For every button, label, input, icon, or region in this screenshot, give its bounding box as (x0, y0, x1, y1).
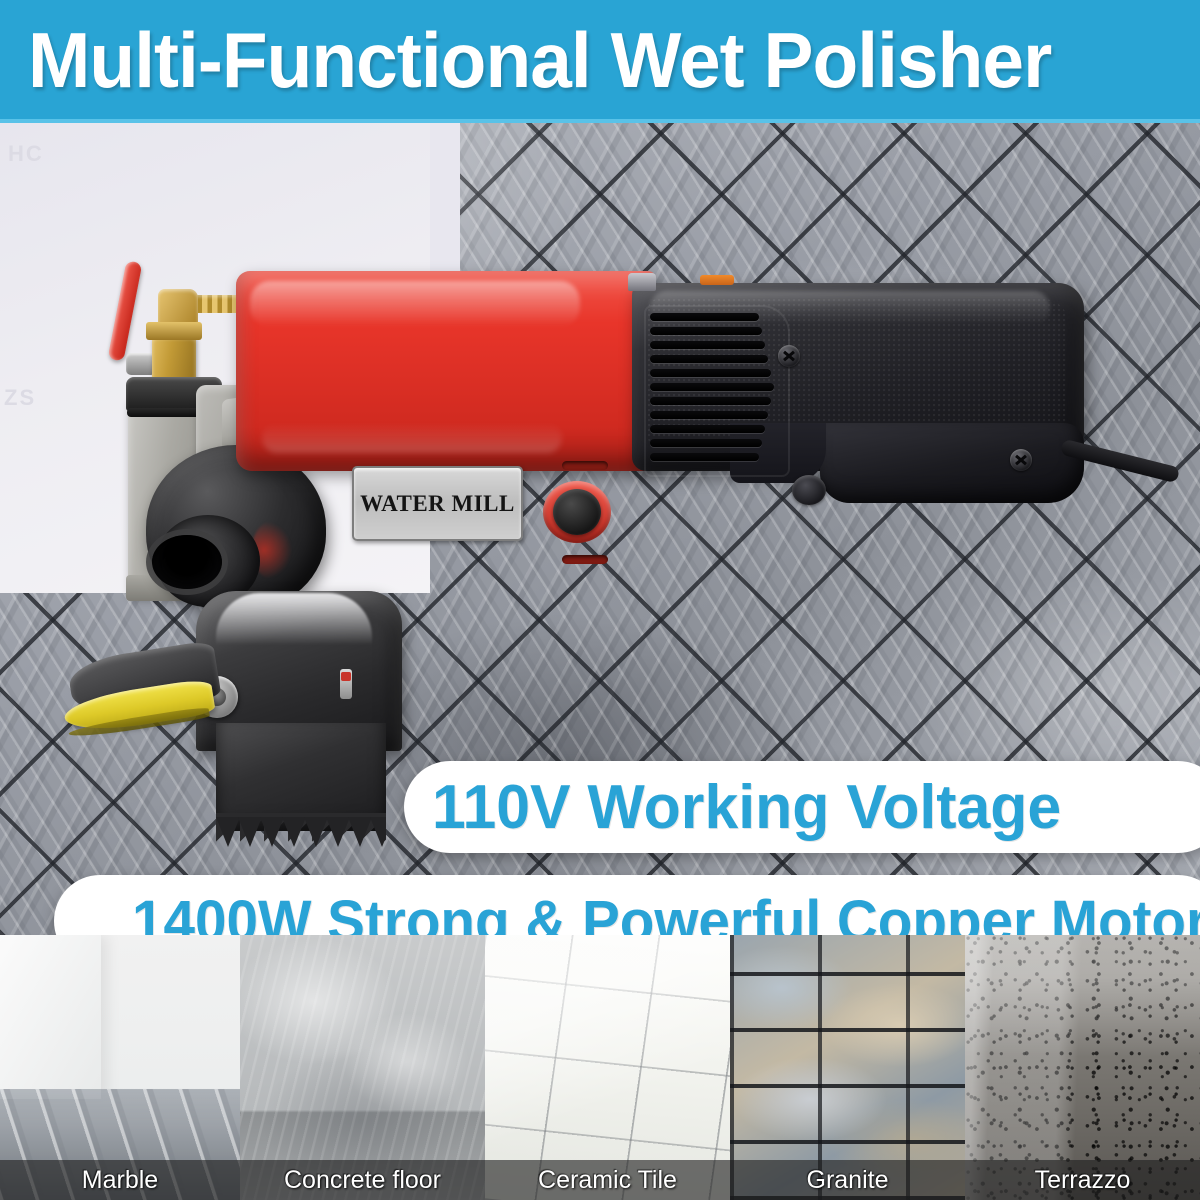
guard-tooth (304, 817, 328, 847)
handle-underside (820, 423, 1084, 503)
top-clip (628, 273, 656, 291)
guard-tab-indicator (341, 672, 351, 681)
material-panel-terrazzo: Terrazzo (965, 935, 1200, 1200)
material-label-ceramic: Ceramic Tile (538, 1166, 677, 1195)
product-marketing-image: Multi-Functional Wet Polisher HC ZS (0, 0, 1200, 1200)
shroud-bore (152, 535, 222, 589)
vent-slat (650, 425, 765, 433)
material-panel-granite: Granite (730, 935, 965, 1200)
guard-highlight (216, 593, 372, 645)
callout-power: 1400W Strong & Powerful Copper Motor (54, 875, 1200, 935)
brass-valve-nut (146, 322, 202, 340)
callout-voltage: 110V Working Voltage (404, 761, 1200, 853)
handle-screw-rear (1010, 449, 1032, 471)
material-label-bar: Concrete floor (240, 1160, 485, 1200)
guard-tooth (370, 817, 394, 847)
material-label-bar: Marble (0, 1160, 240, 1200)
dial-slot-bottom (562, 555, 608, 564)
material-label-bar: Granite (730, 1160, 965, 1200)
callout-power-text: 1400W Strong & Powerful Copper Motor (132, 888, 1200, 936)
supported-materials-strip: Marble Concrete floor Ceramic Tile Grani… (0, 935, 1200, 1200)
guard-tooth (238, 817, 262, 847)
spindle-lock-button[interactable] (792, 475, 826, 505)
vent-slat (650, 439, 762, 447)
material-panel-marble: Marble (0, 935, 240, 1200)
material-label-terrazzo: Terrazzo (1035, 1166, 1131, 1195)
marble-wall (0, 935, 101, 1099)
guard-tooth (326, 817, 350, 847)
vent-slat (650, 397, 771, 405)
motor-vents (650, 313, 788, 469)
vent-slat (650, 313, 759, 321)
vent-slat (650, 369, 771, 377)
guard-tooth (260, 817, 284, 847)
speed-dial-knob[interactable] (553, 489, 601, 535)
guard-tooth (216, 817, 240, 847)
vent-slat (650, 411, 768, 419)
housing-lower-highlight (262, 423, 562, 453)
brand-name-text: WATER MILL (360, 491, 515, 517)
material-panel-concrete: Concrete floor (240, 935, 485, 1200)
brand-nameplate: WATER MILL (352, 466, 523, 541)
header-banner: Multi-Functional Wet Polisher (0, 0, 1200, 123)
material-label-bar: Ceramic Tile (485, 1160, 730, 1200)
callout-voltage-text: 110V Working Voltage (432, 772, 1061, 843)
material-label-marble: Marble (82, 1166, 158, 1195)
material-label-granite: Granite (807, 1166, 889, 1195)
vent-slat (650, 327, 762, 335)
material-label-concrete: Concrete floor (284, 1166, 441, 1195)
page-title: Multi-Functional Wet Polisher (28, 20, 1142, 100)
vent-slat (650, 453, 759, 461)
vent-slat (650, 341, 765, 349)
guard-tooth (282, 817, 306, 847)
vent-slat (650, 355, 768, 363)
dial-slot-top (562, 461, 608, 470)
guard-serrated-edge (216, 813, 386, 847)
material-panel-ceramic: Ceramic Tile (485, 935, 730, 1200)
valve-lever (108, 260, 143, 361)
vent-slat (650, 383, 774, 391)
orange-indicator (700, 275, 734, 285)
material-label-bar: Terrazzo (965, 1160, 1200, 1200)
handle-screw-front (778, 345, 800, 367)
guard-tooth (348, 817, 372, 847)
housing-highlight (250, 281, 580, 327)
product-photo: HC ZS (0, 123, 1200, 935)
